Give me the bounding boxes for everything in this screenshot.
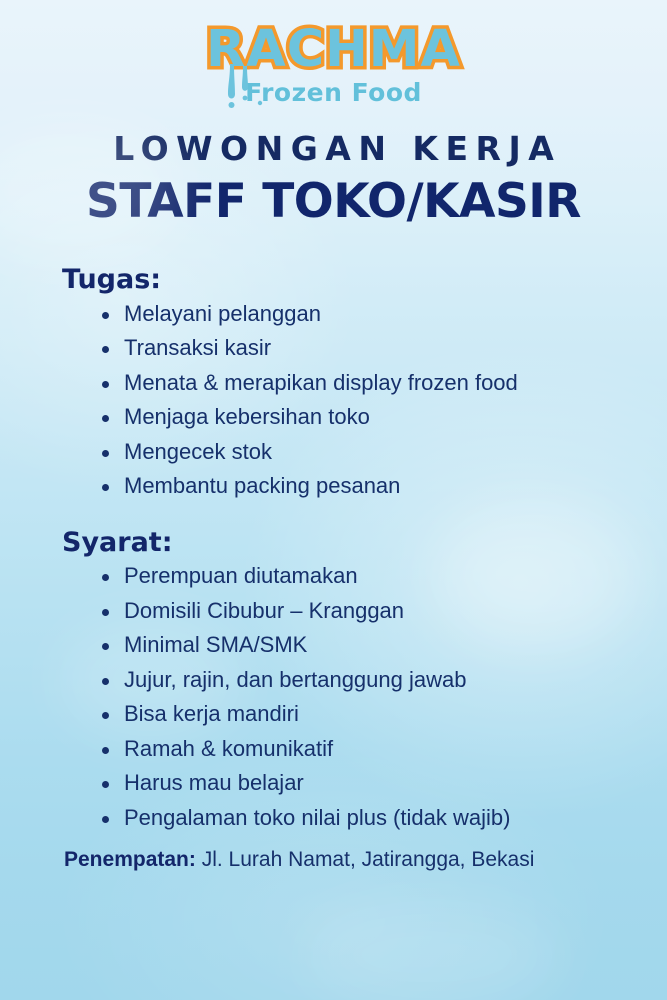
page-kicker: LOWONGAN KERJA bbox=[0, 131, 667, 167]
poster-content: Tugas: Melayani pelanggan Transaksi kasi… bbox=[0, 264, 667, 872]
placement-value: Jl. Lurah Namat, Jatirangga, Bekasi bbox=[202, 848, 535, 871]
list-item: Membantu packing pesanan bbox=[102, 475, 623, 497]
requirements-list: Perempuan diutamakan Domisili Cibubur – … bbox=[62, 565, 623, 829]
list-item: Transaksi kasir bbox=[102, 337, 623, 359]
job-poster: RACHMA Frozen Food LOWONGAN KERJA STAFF … bbox=[0, 0, 667, 1000]
list-item: Mengecek stok bbox=[102, 441, 623, 463]
list-item: Melayani pelanggan bbox=[102, 303, 623, 325]
list-item: Minimal SMA/SMK bbox=[102, 634, 623, 656]
placement-label: Penempatan: bbox=[64, 848, 196, 871]
list-item: Harus mau belajar bbox=[102, 772, 623, 794]
logo-mark: RACHMA bbox=[206, 24, 461, 75]
list-item: Domisili Cibubur – Kranggan bbox=[102, 600, 623, 622]
list-item: Pengalaman toko nilai plus (tidak wajib) bbox=[102, 807, 623, 829]
list-item: Bisa kerja mandiri bbox=[102, 703, 623, 725]
page-title: STAFF TOKO/KASIR bbox=[0, 177, 667, 226]
section-heading-tugas: Tugas: bbox=[62, 264, 623, 296]
list-item: Perempuan diutamakan bbox=[102, 565, 623, 587]
frost-blotch bbox=[300, 900, 560, 1000]
placement-line: Penempatan: Jl. Lurah Namat, Jatirangga,… bbox=[62, 847, 623, 872]
list-item: Menata & merapikan display frozen food bbox=[102, 372, 623, 394]
drip-icon bbox=[222, 64, 282, 110]
duties-list: Melayani pelanggan Transaksi kasir Menat… bbox=[62, 303, 623, 498]
list-item: Jujur, rajin, dan bertanggung jawab bbox=[102, 669, 623, 691]
section-heading-syarat: Syarat: bbox=[62, 527, 623, 559]
list-item: Menjaga kebersihan toko bbox=[102, 406, 623, 428]
list-item: Ramah & komunikatif bbox=[102, 738, 623, 760]
brand-tagline: Frozen Food bbox=[0, 79, 667, 107]
brand-logo: RACHMA Frozen Food bbox=[0, 0, 667, 107]
